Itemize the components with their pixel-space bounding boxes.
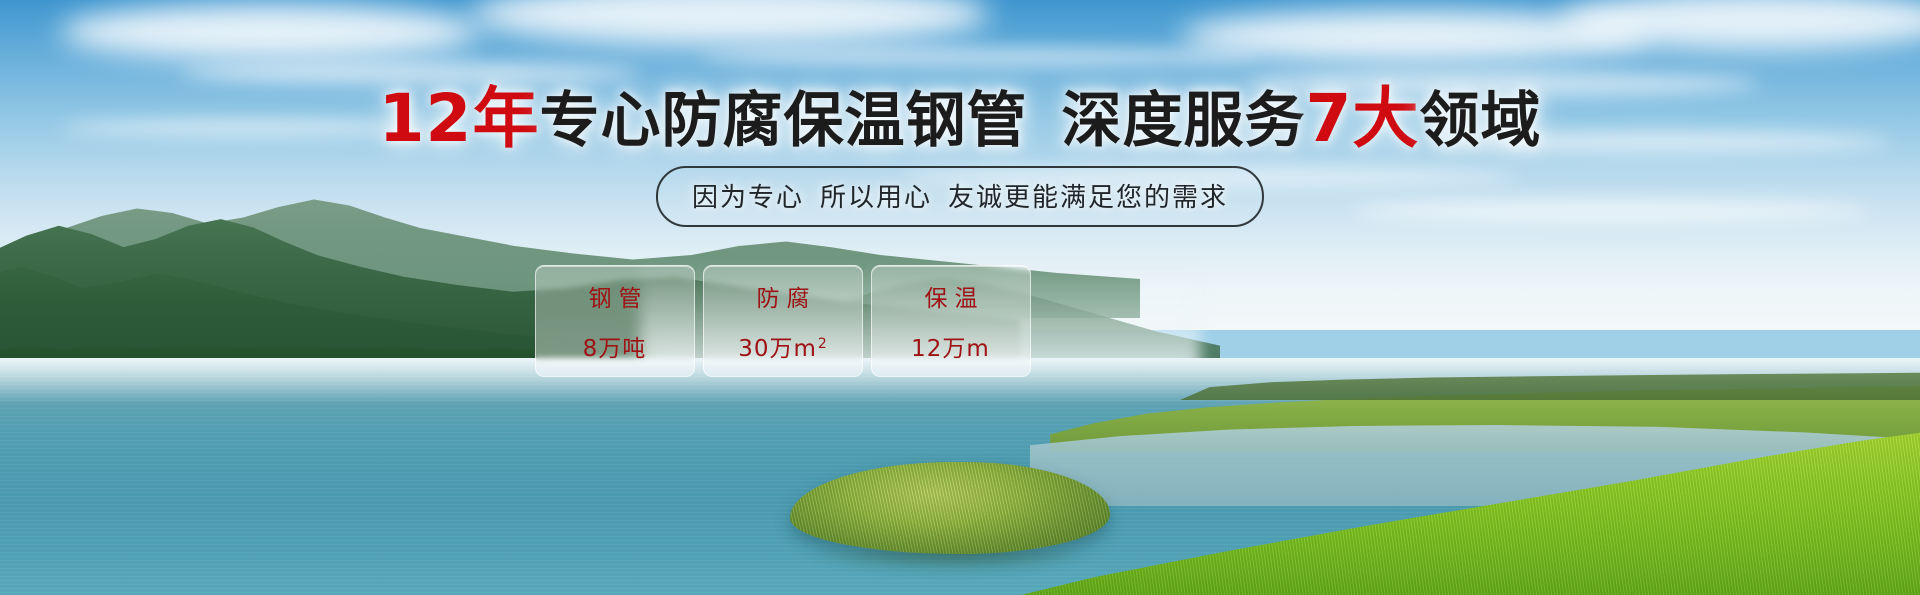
headline-fields-number: 7大	[1305, 80, 1419, 157]
stat-card-anticorrosion[interactable]: 防腐 30万m 2	[703, 265, 863, 377]
stat-value-superscript: 2	[818, 336, 828, 352]
stat-card-steel-pipe[interactable]: 钢管 8万吨	[535, 265, 695, 377]
stat-card-value: 30万m 2	[738, 329, 828, 363]
banner-headline: 12年专心防腐保温钢管深度服务7大领域	[0, 86, 1920, 152]
hero-banner: 12年专心防腐保温钢管深度服务7大领域 因为专心所以用心友诚更能满足您的需求 钢…	[0, 0, 1920, 595]
headline-middle: 专心防腐保温钢管	[539, 86, 1027, 156]
stat-value-text: 30万m	[738, 329, 817, 363]
stat-value-text: 12万m	[911, 329, 990, 363]
stat-card-label: 保温	[918, 279, 985, 313]
stat-card-insulation[interactable]: 保温 12万m	[871, 265, 1031, 377]
headline-fields: 领域	[1419, 86, 1541, 156]
stat-card-value: 12万m	[911, 329, 991, 363]
subtitle-part-3: 友诚更能满足您的需求	[948, 183, 1228, 213]
subtitle-part-2: 所以用心	[820, 183, 932, 213]
stat-value-text: 8万吨	[583, 329, 647, 363]
headline-service: 深度服务	[1061, 86, 1305, 156]
headline-years: 12年	[379, 80, 540, 157]
stat-card-label: 钢管	[582, 279, 649, 313]
subtitle-pill: 因为专心所以用心友诚更能满足您的需求	[656, 166, 1264, 227]
stat-card-value: 8万吨	[583, 329, 648, 363]
stat-card-label: 防腐	[750, 279, 817, 313]
subtitle-part-1: 因为专心	[692, 183, 804, 213]
stat-card-group: 钢管 8万吨 防腐 30万m 2 保温 12万m	[535, 265, 1031, 377]
